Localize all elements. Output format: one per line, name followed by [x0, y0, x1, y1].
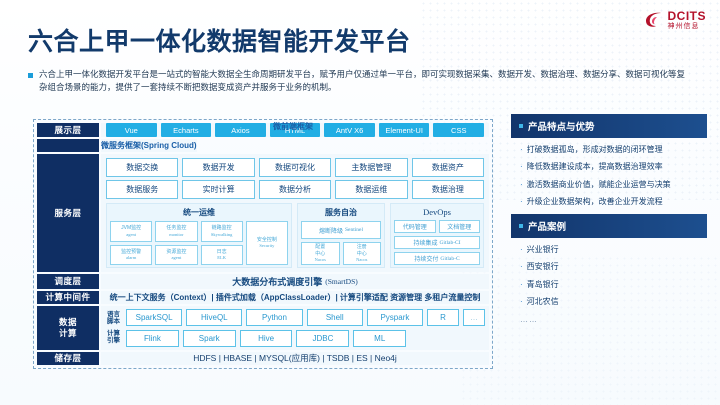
compute-layer-row: 数据 计算 语言 脚本 计算 引擎 — [37, 306, 489, 350]
autonomy-cell-registry-center[interactable]: 注册 中心 Nacos — [343, 242, 382, 265]
service-module[interactable]: 数据治理 — [412, 180, 484, 199]
script-item[interactable]: Shell — [307, 309, 363, 326]
middleware-text: 统一上下文服务（Context）| 插件式加载（AppClassLoader）|… — [101, 291, 489, 304]
service-layer-row: 服务层 数据交换 数据开发 数据可视化 主数据管理 数据资产 数据服务 实时计算 — [37, 154, 489, 272]
ops-cell[interactable]: 链路监控 Skywalking — [201, 221, 243, 242]
script-item[interactable]: Pyspark — [367, 309, 423, 326]
list-item: ·激活数据商业价值，赋能企业运营与决策 — [520, 180, 698, 190]
list-item: ·西安银行 — [520, 262, 698, 272]
cases-card-header: 产品案例 — [511, 214, 707, 238]
spring-cloud-title: 微服务框架(Spring Cloud) — [101, 139, 197, 152]
group-unified-ops: 统一运维 JVM监控 agent 监控预警 alarm — [106, 203, 292, 268]
intro-text: 六合上甲一体化数据开发平台是一站式的智能大数据全生命周期研发平台，赋予用户仅通过… — [39, 68, 688, 94]
service-module[interactable]: 主数据管理 — [335, 158, 407, 177]
list-item: ·河北农信 — [520, 297, 698, 307]
slide-canvas: DCITS 神州信息 六合上甲一体化数据智能开发平台 六合上甲一体化数据开发平台… — [0, 0, 720, 405]
list-item: ·青岛银行 — [520, 280, 698, 290]
group-devops: DevOps 代码管理 文档管理 持续集成 Gitlab-CI — [390, 203, 484, 268]
ops-cell[interactable]: 任务监控 monitor — [155, 221, 197, 242]
script-item[interactable]: Python — [246, 309, 302, 326]
engine-item[interactable]: JDBC — [296, 330, 349, 347]
features-card-body: ·打破数据孤岛，形成对数据的闭环管理 ·降低数据建设成本，提高数据治理效率 ·激… — [511, 138, 707, 219]
brand-name-cn: 神州信息 — [668, 23, 707, 30]
ops-cell-security[interactable]: 安全控制 Security — [246, 221, 288, 265]
service-module[interactable]: 数据交换 — [106, 158, 178, 177]
layer-label-presentation: 展示层 — [37, 123, 99, 137]
script-row: SparkSQL HiveQL Python Shell Pyspark R … — [126, 309, 485, 326]
devops-cell-ci[interactable]: 持续集成 Gitlab-CI — [394, 236, 480, 249]
service-module[interactable]: 数据可视化 — [259, 158, 331, 177]
autonomy-cell-config-center[interactable]: 配置 中心 Nacos — [301, 242, 340, 265]
ops-cell[interactable]: 监控预警 alarm — [110, 245, 152, 266]
group-title: 统一运维 — [110, 207, 288, 218]
architecture-diagram: 展示层 Vue Echarts Axios HTML AntV X6 Eleme… — [33, 119, 493, 369]
features-card-title: 产品特点与优势 — [528, 119, 595, 133]
script-item[interactable]: SparkSQL — [126, 309, 182, 326]
list-item: ·降低数据建设成本，提高数据治理效率 — [520, 162, 698, 172]
ops-cell[interactable]: 资源监控 agent — [155, 245, 197, 266]
group-title: DevOps — [394, 207, 480, 217]
service-module[interactable]: 数据运维 — [335, 180, 407, 199]
script-item[interactable]: HiveQL — [186, 309, 242, 326]
bullet-square-icon — [519, 124, 523, 128]
engine-row-spacer2 — [465, 330, 485, 347]
list-item-more: …… — [520, 315, 698, 325]
bullet-dot-icon: · — [520, 297, 523, 307]
engine-row-spacer — [410, 330, 461, 347]
page-title: 六合上甲一体化数据智能开发平台 — [28, 22, 411, 58]
ops-cell[interactable]: JVM监控 agent — [110, 221, 152, 242]
features-card: 产品特点与优势 ·打破数据孤岛，形成对数据的闭环管理 ·降低数据建设成本，提高数… — [511, 114, 707, 219]
service-module[interactable]: 数据分析 — [259, 180, 331, 199]
service-module[interactable]: 数据服务 — [106, 180, 178, 199]
list-item: ·兴业银行 — [520, 245, 698, 255]
bullet-square-icon — [519, 224, 523, 228]
cases-card-title: 产品案例 — [528, 219, 566, 233]
schedule-layer-row: 调度层 大数据分布式调度引擎 (SmartDS) — [37, 274, 489, 289]
compute-side-labels: 语言 脚本 计算 引擎 — [105, 309, 122, 347]
features-card-header: 产品特点与优势 — [511, 114, 707, 138]
layer-label-storage: 储存层 — [37, 352, 99, 365]
bullet-dot-icon: · — [520, 245, 523, 255]
middleware-layer-row: 计算中间件 统一上下文服务（Context）| 插件式加载（AppClassLo… — [37, 291, 489, 304]
spring-cloud-caption-row: 微服务框架(Spring Cloud) — [37, 139, 489, 152]
devops-cell-doc[interactable]: 文档管理 — [439, 220, 481, 233]
dcits-swirl-logo-icon — [644, 11, 664, 29]
storage-text: HDFS | HBASE | MYSQL(应用库) | TSDB | ES | … — [101, 352, 489, 365]
group-service-autonomy: 服务自治 熔断降级 Sentinel 配置 中心 — [297, 203, 385, 268]
engine-item[interactable]: Spark — [183, 330, 236, 347]
bullet-dot-icon: · — [520, 145, 523, 155]
intro-paragraph: 六合上甲一体化数据开发平台是一站式的智能大数据全生命周期研发平台，赋予用户仅通过… — [28, 68, 688, 94]
bullet-dot-icon: · — [520, 180, 523, 190]
bullet-dot-icon: · — [520, 262, 523, 272]
bullet-dot-icon: · — [520, 162, 523, 172]
script-item[interactable]: R — [427, 309, 459, 326]
devops-cell-cd[interactable]: 持续交付 Gitlab-C — [394, 252, 480, 265]
bullet-dot-icon: · — [520, 280, 523, 290]
devops-cell-code[interactable]: 代码管理 — [394, 220, 436, 233]
service-module[interactable]: 实时计算 — [182, 180, 254, 199]
engine-label: 计算 引擎 — [105, 330, 122, 345]
layer-label-schedule: 调度层 — [37, 274, 99, 289]
engine-item[interactable]: Hive — [240, 330, 293, 347]
layer-label-compute: 数据 计算 — [37, 306, 99, 350]
service-module[interactable]: 数据资产 — [412, 158, 484, 177]
engine-row: Flink Spark Hive JDBC ML — [126, 330, 485, 347]
ops-cell[interactable]: 日志 ELK — [201, 245, 243, 266]
cases-card-body: ·兴业银行 ·西安银行 ·青岛银行 ·河北农信 …… — [511, 238, 707, 336]
layer-label-middleware: 计算中间件 — [37, 291, 99, 304]
schedule-engine-text: 大数据分布式调度引擎 (SmartDS) — [101, 274, 489, 289]
engine-item[interactable]: ML — [353, 330, 406, 347]
service-module[interactable]: 数据开发 — [182, 158, 254, 177]
layer-label-service: 服务层 — [37, 154, 99, 272]
autonomy-cell-sentinel[interactable]: 熔断降级 Sentinel — [301, 221, 381, 239]
brand-logo: DCITS 神州信息 — [644, 10, 707, 30]
engine-item[interactable]: Flink — [126, 330, 179, 347]
brand-name-en: DCITS — [668, 10, 707, 22]
group-title: 服务自治 — [301, 207, 381, 218]
micro-frontend-title: 微前端框架 — [95, 121, 491, 132]
script-label: 语言 脚本 — [105, 311, 122, 326]
script-item-more[interactable]: … — [463, 309, 485, 326]
list-item: ·打破数据孤岛，形成对数据的闭环管理 — [520, 145, 698, 155]
bullet-square-icon — [28, 73, 33, 78]
cases-card: 产品案例 ·兴业银行 ·西安银行 ·青岛银行 ·河北农信 …… — [511, 214, 707, 336]
storage-layer-row: 储存层 HDFS | HBASE | MYSQL(应用库) | TSDB | E… — [37, 352, 489, 365]
list-item: ·升级企业数据架构，改善企业开发流程 — [520, 197, 698, 207]
bullet-dot-icon: · — [520, 197, 523, 207]
